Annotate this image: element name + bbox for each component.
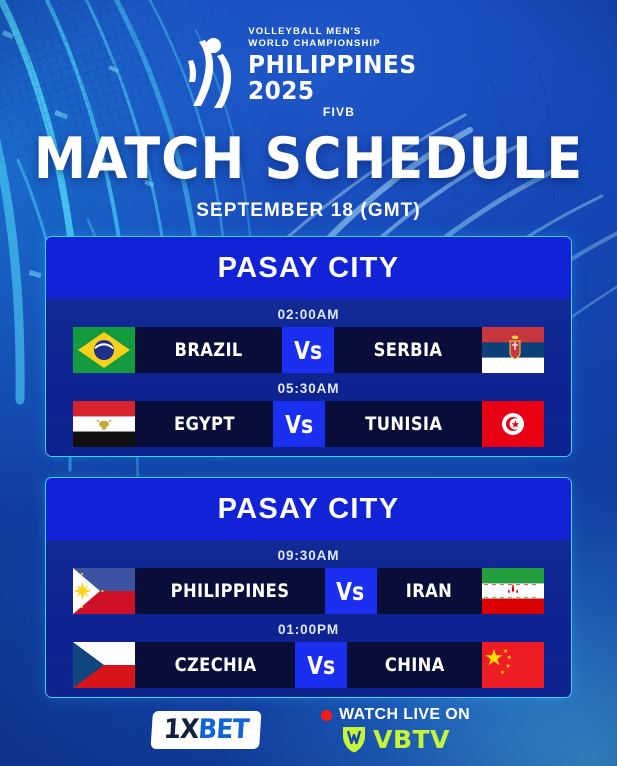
match-row[interactable]: 02:00AM BRAZIL Vs — [46, 305, 571, 379]
venue-header: PASAY CITY — [46, 478, 571, 540]
vs-badge: Vs — [295, 642, 347, 688]
logo-year: 2025 — [248, 78, 417, 103]
watch-live-label: WATCH LIVE ON — [339, 706, 470, 724]
venue-card: PASAY CITY 02:00AM BRAZIL — [45, 236, 572, 457]
logo-line-2: WORLD CHAMPIONSHIP — [248, 38, 429, 49]
venue-card: PASAY CITY 09:30AM — [45, 477, 572, 698]
home-team-name: CZECHIA — [174, 654, 256, 676]
logo-line-1: VOLLEYBALL MEN'S — [248, 26, 429, 37]
match-time: 01:00PM — [46, 620, 571, 640]
flag-china-icon — [482, 642, 544, 688]
vs-label: Vs — [307, 653, 335, 678]
home-team: EGYPT — [135, 401, 273, 447]
flag-tunisia-icon — [482, 401, 544, 447]
home-team-name: EGYPT — [174, 413, 235, 435]
fivb-player-icon — [187, 36, 239, 110]
logo-country: PHILIPPINES — [248, 52, 417, 77]
vs-label: Vs — [285, 412, 313, 437]
live-dot-icon — [321, 710, 332, 721]
vs-label: Vs — [294, 338, 322, 363]
footer: 1XBET WATCH LIVE ON VBTV — [0, 706, 617, 753]
away-team-name: CHINA — [385, 654, 445, 676]
page-title: MATCH SCHEDULE — [25, 131, 593, 188]
logo-fivb: FIVB — [323, 106, 355, 119]
vbtv-logo[interactable]: VBTV — [341, 726, 450, 753]
match-row[interactable]: 05:30AM — [46, 379, 571, 453]
event-logo: VOLLEYBALL MEN'S WORLD CHAMPIONSHIP PHIL… — [0, 26, 617, 119]
flag-brazil-icon — [73, 327, 135, 373]
match-schedule-poster: VOLLEYBALL MEN'S WORLD CHAMPIONSHIP PHIL… — [0, 0, 617, 766]
home-team: CZECHIA — [135, 642, 295, 688]
home-team-name: PHILIPPINES — [170, 580, 289, 602]
flag-serbia-icon — [482, 327, 544, 373]
home-team: BRAZIL — [135, 327, 282, 373]
away-team: SERBIA — [334, 327, 482, 373]
vs-badge: Vs — [325, 568, 377, 614]
vs-label: Vs — [336, 579, 364, 604]
away-team: IRAN — [377, 568, 482, 614]
broadcast-info: WATCH LIVE ON VBTV — [321, 706, 470, 753]
venue-matches: 02:00AM BRAZIL Vs — [46, 299, 571, 457]
match-time: 05:30AM — [46, 379, 571, 399]
vs-badge: Vs — [282, 327, 334, 373]
venue-name: PASAY CITY — [218, 252, 400, 285]
match-time: 09:30AM — [46, 546, 571, 566]
home-team: PHILIPPINES — [135, 568, 325, 614]
vs-badge: Vs — [273, 401, 325, 447]
vbtv-label: VBTV — [373, 727, 450, 752]
flag-philippines-icon — [73, 568, 135, 614]
venue-header: PASAY CITY — [46, 237, 571, 299]
home-team-name: BRAZIL — [175, 339, 243, 361]
sponsor-logo-part1: 1X — [163, 714, 200, 745]
away-team-name: SERBIA — [374, 339, 443, 361]
flag-iran-icon — [482, 568, 544, 614]
page-subtitle: SEPTEMBER 18 (GMT) — [0, 200, 617, 222]
flag-czechia-icon — [73, 642, 135, 688]
away-team-name: IRAN — [406, 580, 452, 602]
sponsor-logo-part2: BET — [197, 714, 249, 745]
away-team: TUNISIA — [325, 401, 482, 447]
vbtv-shield-icon — [341, 726, 367, 753]
watch-live-line: WATCH LIVE ON — [321, 706, 470, 724]
match-row[interactable]: 01:00PM CZECHIA Vs — [46, 620, 571, 694]
away-team-name: TUNISIA — [365, 413, 442, 435]
match-time: 02:00AM — [46, 305, 571, 325]
match-row[interactable]: 09:30AM — [46, 546, 571, 620]
venue-name: PASAY CITY — [218, 493, 400, 526]
venue-matches: 09:30AM — [46, 540, 571, 698]
sponsor-1xbet-logo[interactable]: 1XBET — [150, 711, 261, 749]
flag-egypt-icon — [73, 401, 135, 447]
away-team: CHINA — [347, 642, 482, 688]
